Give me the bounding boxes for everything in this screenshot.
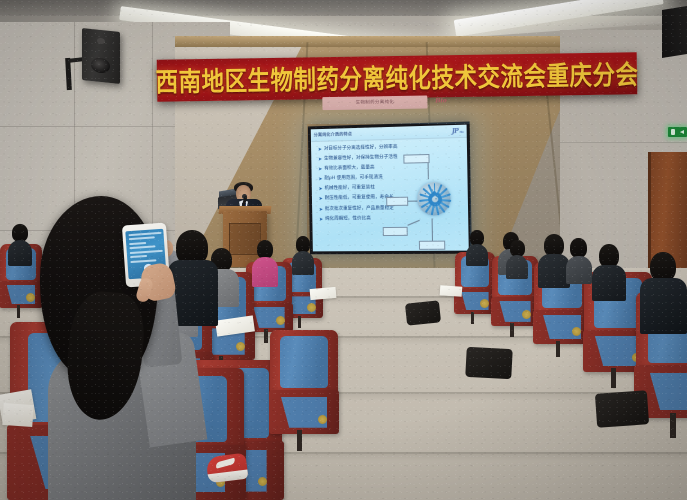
conference-banner: 西南地区生物制药分离纯化技术交流会重庆分会 生物制药分离纯化 Bio: [157, 52, 638, 102]
notebook: [310, 287, 337, 300]
list-item: ➤ 耐pH 使用范围，可手现清洗: [318, 175, 411, 183]
bullet-arrow-icon: ➤: [319, 216, 323, 222]
seat[interactable]: [270, 330, 338, 434]
list-item: ➤ 对目标分子分离选择性好，分辨率高: [318, 144, 411, 152]
bullet-text: 对目标分子分离选择性好，分辨率高: [324, 145, 398, 153]
backpack[interactable]: [465, 347, 513, 379]
banner-logo: Bio: [435, 95, 465, 107]
exit-sign-icon: [668, 127, 687, 137]
banner-sub-strip: 生物制药分离纯化: [322, 96, 427, 111]
slide-bullet-list: ➤ 对目标分子分离选择性好，分辨率高 ➤ 生物兼容性好，对保持生物分子活性 ➤ …: [318, 144, 413, 226]
slide-header: 分离纯化介质的特点 JPBio: [311, 125, 467, 143]
backpack[interactable]: [595, 390, 649, 428]
audience-person: [506, 240, 528, 274]
bullet-arrow-icon: ➤: [318, 147, 322, 153]
wall-speaker-left: [82, 28, 120, 84]
bullet-arrow-icon: ➤: [318, 177, 322, 183]
bullet-text: 耐pH 使用范围，可手现清洗: [324, 175, 383, 182]
list-item: ➤ 生物兼容性好，对保持生物分子活性: [318, 155, 411, 163]
banner-sub-text: 生物制药分离纯化: [322, 96, 427, 111]
audience-person: [592, 244, 626, 298]
bullet-arrow-icon: ➤: [319, 206, 323, 212]
wall-wood-trim: [175, 36, 585, 47]
conference-photo-scene: 西南地区生物制药分离纯化技术交流会重庆分会 生物制药分离纯化 Bio 分离纯化介…: [0, 0, 687, 500]
bullet-text: 生物兼容性好，对保持生物分子活性: [324, 155, 398, 163]
audience-person: [466, 230, 488, 264]
list-item: ➤ 有效比表面积大，载量高: [318, 165, 411, 173]
bullet-text: 批次批次重复性好，产品质量稳定: [325, 205, 394, 212]
diagram-callout-box: [419, 241, 445, 250]
diagram-callout-box: [403, 154, 429, 164]
bullet-text: 机械性能好，可重复装柱: [324, 186, 375, 193]
slide-logo: JPBio: [452, 127, 464, 134]
banner-title: 西南地区生物制药分离纯化技术交流会重庆分会: [155, 54, 639, 99]
audience-person: [566, 238, 592, 280]
slide-surface: 分离纯化介质的特点 JPBio ➤ 对目标分子分离选择性好，分辨率高 ➤ 生物兼…: [311, 125, 469, 252]
projection-screen: 分离纯化介质的特点 JPBio ➤ 对目标分子分离选择性好，分辨率高 ➤ 生物兼…: [308, 121, 472, 254]
woman-photographing-slide: [22, 196, 197, 500]
bullet-arrow-icon: ➤: [318, 187, 322, 193]
bullet-arrow-icon: ➤: [318, 157, 322, 163]
list-item: ➤ 批次批次重复性好，产品质量稳定: [319, 205, 412, 212]
audience-person: [292, 236, 314, 270]
diagram-callout-box: [383, 227, 408, 236]
audience-person: [252, 240, 278, 282]
bullet-arrow-icon: ➤: [318, 167, 322, 173]
diagram-callout-box: [386, 197, 408, 206]
slide-title: 分离纯化介质的特点: [314, 131, 352, 138]
chromatography-bead-diagram: [403, 151, 463, 249]
bullet-arrow-icon: ➤: [319, 197, 323, 203]
wall-speaker-right: [662, 6, 687, 58]
bead-sphere: [417, 182, 451, 216]
list-item: ➤ 纯化周期短，性价比高: [319, 215, 412, 222]
bullet-text: 耐压性能低，可重复使用，寿命长: [325, 195, 394, 202]
bullet-text: 纯化周期短，性价比高: [325, 216, 371, 222]
papers-stack: [2, 403, 33, 427]
list-item: ➤ 机械性能好，可重复装柱: [318, 185, 411, 193]
audience-person: [640, 252, 687, 330]
handbag[interactable]: [405, 300, 441, 325]
bullet-text: 有效比表面积大，载量高: [324, 165, 375, 172]
notebook: [440, 285, 463, 297]
